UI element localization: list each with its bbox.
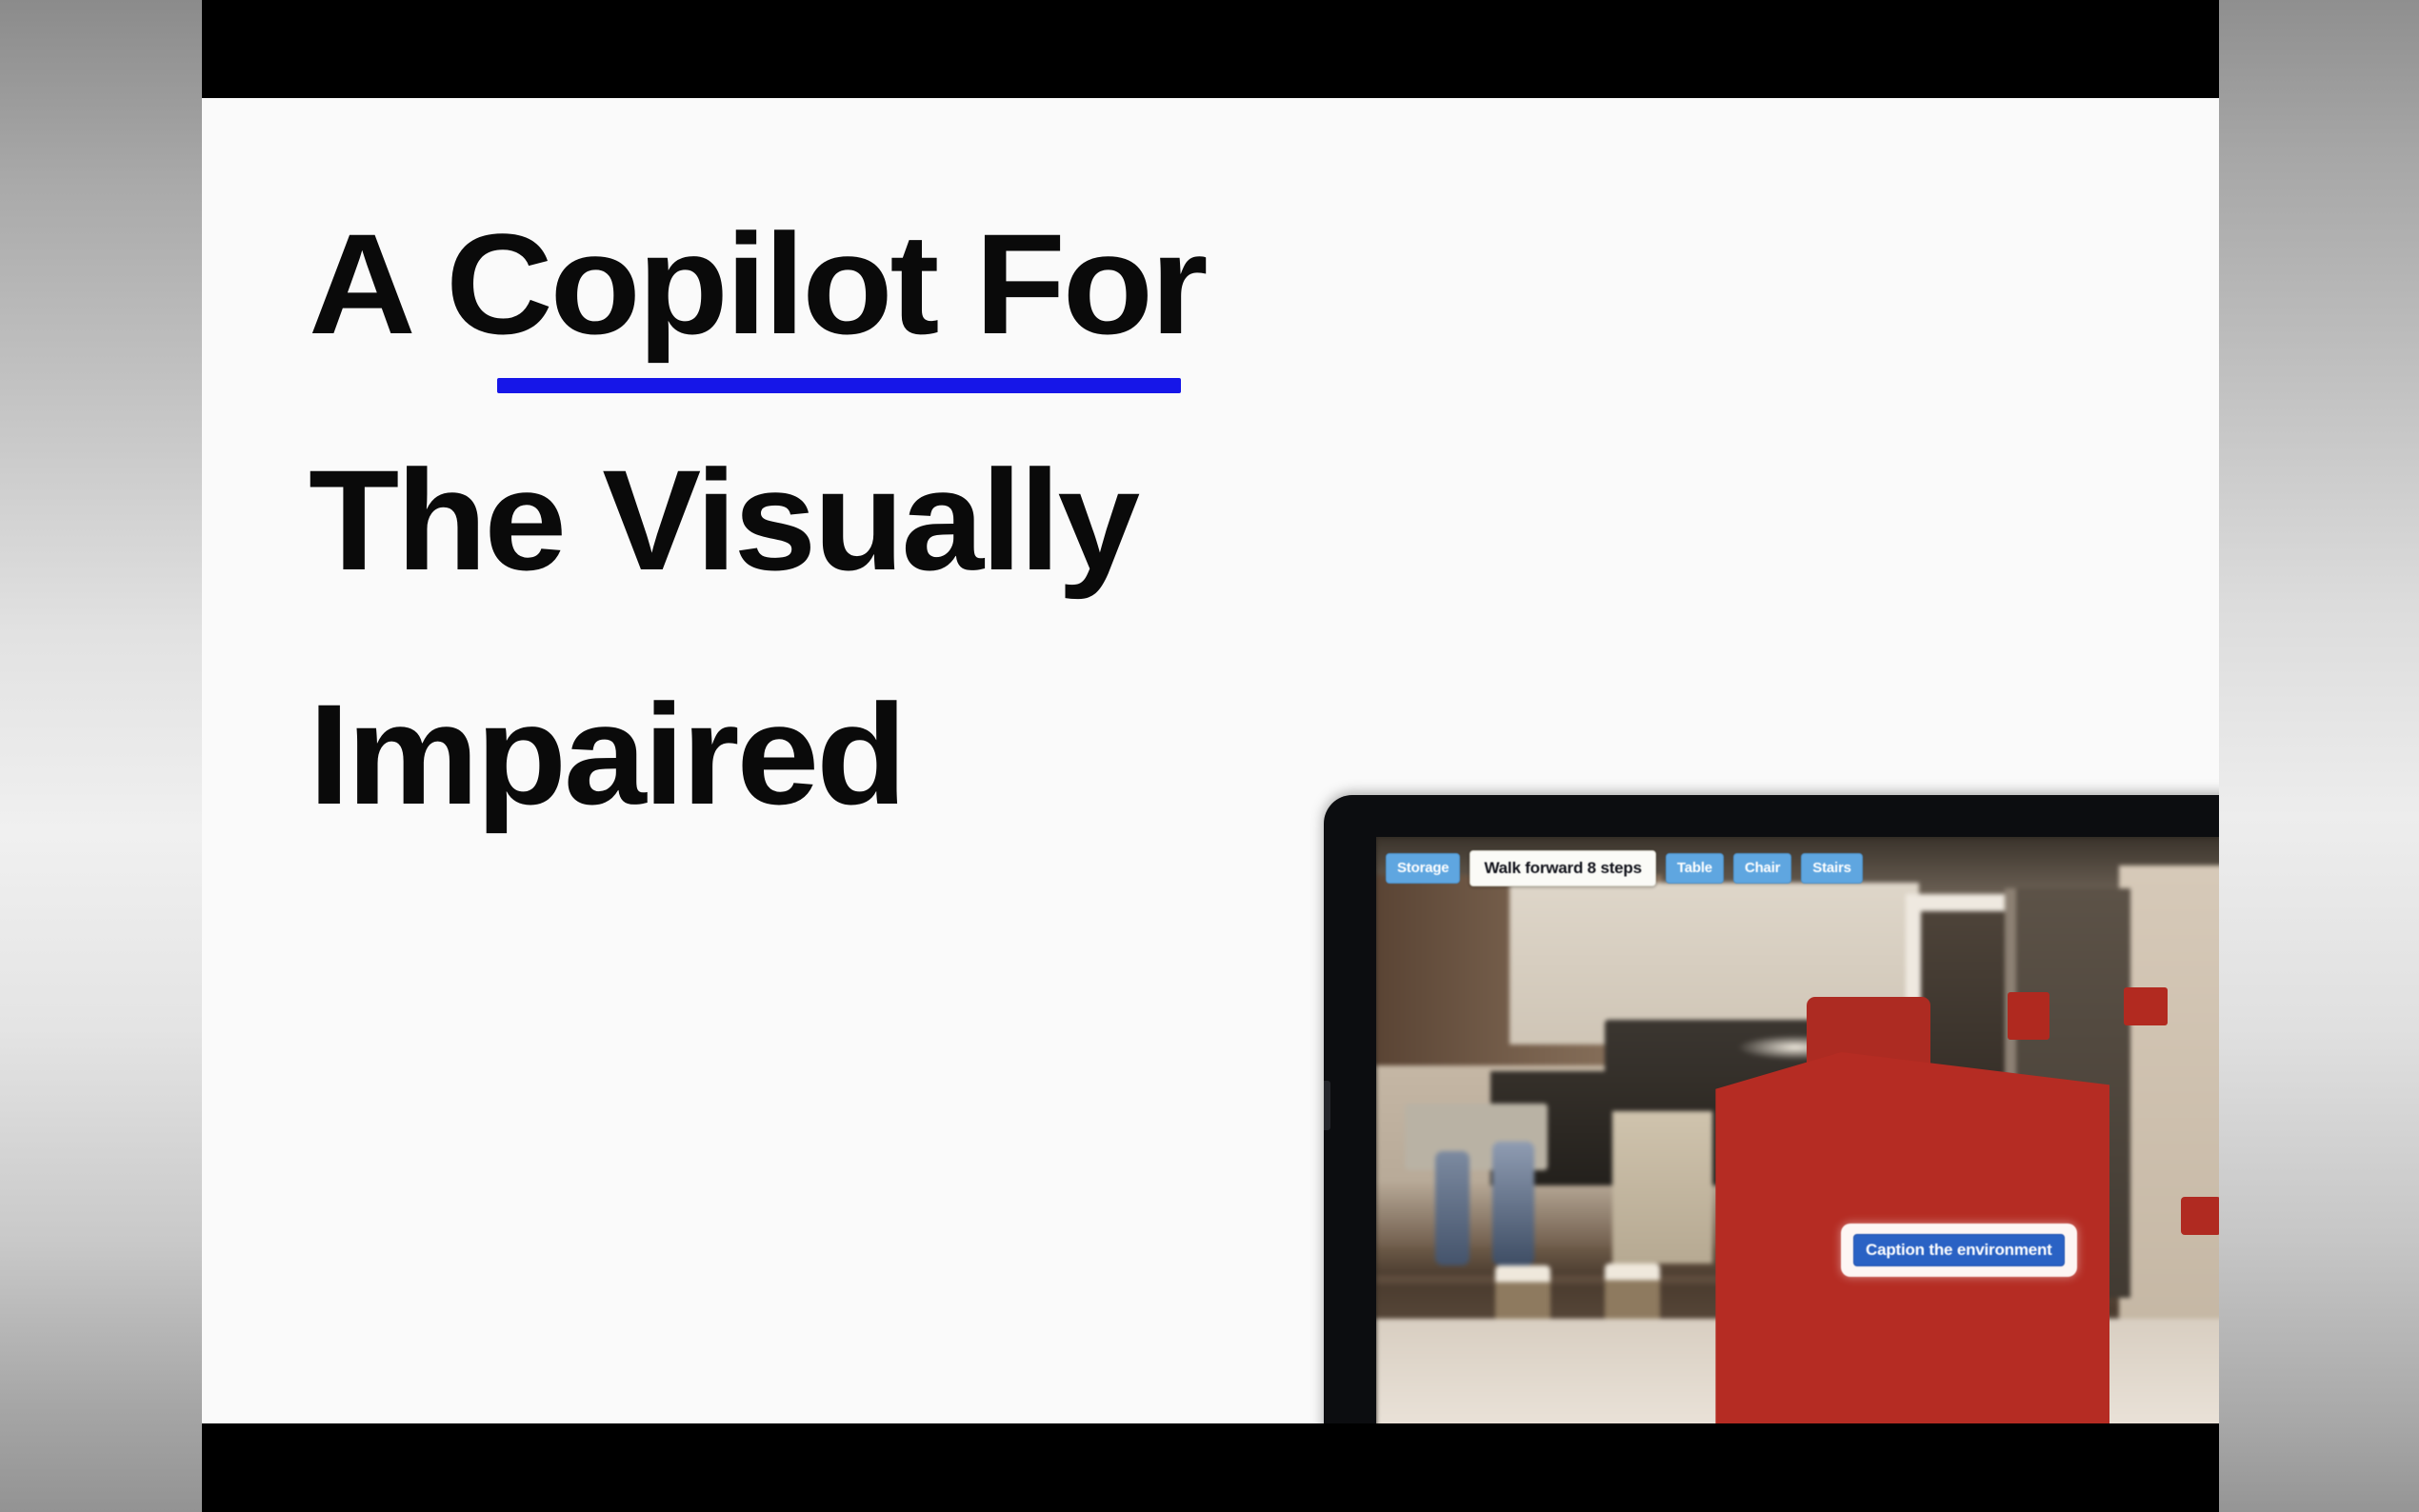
ar-segmentation-mask-patch[interactable]: [2181, 1197, 2219, 1235]
caption-action-container: Caption the environment: [1841, 1224, 2077, 1277]
tablet-volume-button[interactable]: [1324, 1081, 1330, 1130]
ar-camera-viewport: Storage Walk forward 8 steps Table Chair…: [1376, 837, 2219, 1423]
page-title: A Copilot For The Visually Impaired: [309, 212, 1642, 826]
accent-underline-rule: [497, 378, 1181, 393]
video-frame: A Copilot For The Visually Impaired: [0, 0, 2419, 1512]
right-gradient-bar: [2219, 0, 2419, 1512]
scene-bottle-b: [1492, 1142, 1534, 1265]
left-gradient-bar: [0, 0, 202, 1512]
scene-right-wall: [2119, 865, 2219, 1361]
video-content-column: A Copilot For The Visually Impaired: [202, 0, 2219, 1512]
ar-segmentation-mask-patch[interactable]: [2008, 992, 2049, 1040]
command-chip-storage[interactable]: Storage: [1386, 853, 1460, 884]
tablet-device-mockup: Storage Walk forward 8 steps Table Chair…: [1324, 795, 2219, 1423]
command-chip-table[interactable]: Table: [1666, 853, 1724, 884]
scene-bottle-a: [1435, 1151, 1469, 1265]
ar-command-bar: Storage Walk forward 8 steps Table Chair…: [1386, 850, 1863, 886]
presentation-slide: A Copilot For The Visually Impaired: [202, 98, 2219, 1423]
command-chip-walk-forward[interactable]: Walk forward 8 steps: [1469, 850, 1655, 886]
ar-segmentation-mask-patch[interactable]: [2124, 987, 2168, 1025]
scene-paper-bag: [1612, 1111, 1712, 1263]
caption-environment-button[interactable]: Caption the environment: [1853, 1234, 2065, 1266]
headline-line-2: The Visually: [309, 448, 1695, 591]
top-letterbox-bar: [202, 0, 2219, 98]
headline-line-1: A Copilot For: [309, 212, 1695, 355]
bottom-letterbox-bar: [202, 1423, 2219, 1512]
command-chip-chair[interactable]: Chair: [1733, 853, 1791, 884]
command-chip-stairs[interactable]: Stairs: [1801, 853, 1863, 884]
